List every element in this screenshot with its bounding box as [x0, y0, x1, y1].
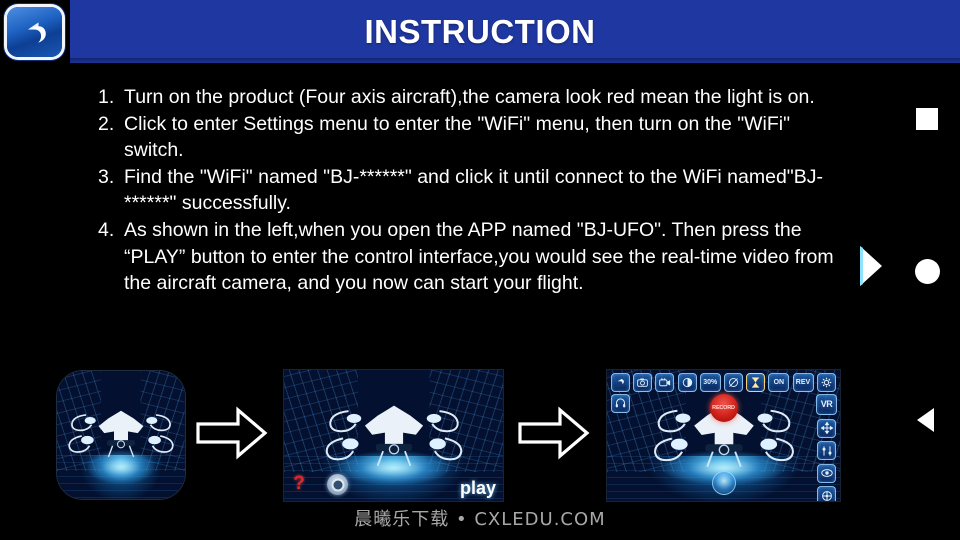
header-divider — [70, 58, 960, 64]
right-arrow-icon — [518, 406, 590, 465]
app-splash-screenshot: ? play — [284, 370, 503, 501]
play-button[interactable]: play — [460, 478, 496, 499]
trim-icon[interactable] — [817, 441, 836, 460]
list-item-text: As shown in the left,when you open the A… — [124, 217, 838, 297]
gear-icon[interactable] — [817, 373, 836, 392]
list-item-number: 3. — [98, 164, 124, 191]
back-triangle-icon[interactable] — [917, 408, 934, 432]
back-arrow-icon[interactable] — [611, 373, 630, 392]
record-button[interactable]: RECORD — [710, 394, 738, 422]
recents-square-icon[interactable] — [916, 108, 938, 130]
control-toolbar-right: VR — [816, 394, 837, 501]
next-page-arrow-icon[interactable] — [855, 243, 885, 294]
list-item: 4. As shown in the left,when you open th… — [98, 217, 838, 297]
speed-icon[interactable]: 30% — [700, 373, 721, 392]
back-arrow-icon[interactable] — [7, 7, 62, 57]
list-item-number: 4. — [98, 217, 124, 244]
gear-icon[interactable] — [327, 474, 348, 495]
drone-illustration — [310, 388, 478, 473]
list-item-number: 2. — [98, 111, 124, 138]
control-interface-screenshot: 30% ON REV VR — [607, 370, 840, 501]
list-item-text: Turn on the product (Four axis aircraft)… — [124, 84, 838, 111]
list-item: 1. Turn on the product (Four axis aircra… — [98, 84, 838, 111]
list-item-text: Find the "WiFi" named "BJ-******" and cl… — [124, 164, 838, 217]
compass-icon[interactable] — [724, 373, 743, 392]
list-item-number: 1. — [98, 84, 124, 111]
power-icon[interactable]: ON — [768, 373, 789, 392]
control-toolbar-left — [611, 394, 630, 413]
brightness-icon[interactable] — [678, 373, 697, 392]
list-item: 2. Click to enter Settings menu to enter… — [98, 111, 838, 164]
headset-icon[interactable] — [611, 394, 630, 413]
home-circle-icon[interactable] — [915, 259, 940, 284]
screenshot-strip: ? play — [0, 368, 960, 508]
app-icon-image — [57, 371, 185, 499]
page-header: INSTRUCTION — [0, 0, 960, 63]
android-nav-bar — [900, 0, 960, 540]
move-arrows-icon[interactable] — [817, 419, 836, 438]
list-item-text: Click to enter Settings menu to enter th… — [124, 111, 838, 164]
gyro-eye-icon[interactable] — [817, 464, 836, 483]
page-title: INSTRUCTION — [0, 0, 960, 63]
help-question-icon[interactable]: ? — [290, 471, 308, 497]
site-watermark: 晨曦乐下载 • CXLEDU.COM — [0, 505, 960, 531]
joystick-icon[interactable] — [712, 471, 736, 495]
hourglass-icon[interactable] — [746, 373, 765, 392]
vr-icon[interactable]: VR — [816, 394, 837, 415]
video-camera-icon[interactable] — [655, 373, 674, 392]
camera-icon[interactable] — [633, 373, 652, 392]
drone-scene-background — [57, 371, 185, 499]
drone-illustration — [65, 396, 177, 463]
list-item: 3. Find the "WiFi" named "BJ-******" and… — [98, 164, 838, 217]
reverse-icon[interactable]: REV — [793, 373, 814, 392]
control-toolbar-top: 30% ON REV — [611, 373, 836, 392]
right-arrow-icon — [196, 406, 268, 465]
instruction-list: 1. Turn on the product (Four axis aircra… — [98, 84, 838, 297]
gravity-sensor-icon[interactable] — [817, 486, 836, 501]
